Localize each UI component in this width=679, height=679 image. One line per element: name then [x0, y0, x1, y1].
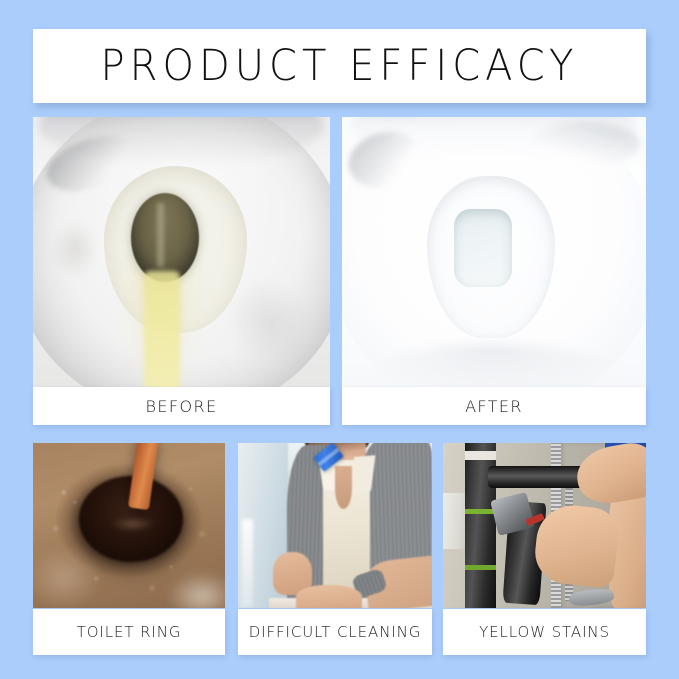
before-label-bar: BEFORE — [33, 387, 330, 425]
toilet-bowl-clean-photo — [342, 117, 646, 387]
bowl-gloss-highlight — [530, 122, 639, 165]
after-label-bar: AFTER — [342, 387, 646, 425]
bowl-smudge — [51, 220, 99, 279]
problem-label-bar-difficult-cleaning: DIFFICULT CLEANING — [238, 609, 432, 655]
green-tape — [465, 565, 495, 570]
woman-clothespin-photo — [238, 443, 432, 608]
yellow-stain-streak — [144, 271, 180, 387]
product-efficacy-poster: PRODUCT EFFICACY BEFORE — [0, 0, 679, 679]
problem-label: TOILET RING — [77, 623, 182, 641]
bowl-drain-hole-stained — [131, 193, 199, 282]
hand-right — [296, 585, 362, 608]
pipe-label — [465, 451, 495, 459]
toilet-bowl-dirty-photo — [33, 117, 330, 387]
problem-label-bar-yellow-stains: YELLOW STAINS — [443, 609, 646, 655]
title-bar: PRODUCT EFFICACY — [33, 29, 646, 103]
bowl-drain-hole-clean — [454, 209, 512, 287]
problem-label: YELLOW STAINS — [479, 623, 610, 641]
after-label: AFTER — [465, 397, 523, 416]
problem-label-bar-toilet-ring: TOILET RING — [33, 609, 225, 655]
water-splash — [33, 545, 102, 608]
page-title: PRODUCT EFFICACY — [101, 45, 579, 87]
bowl-smudge — [229, 279, 306, 360]
before-image-panel — [33, 117, 330, 387]
problem-label: DIFFICULT CLEANING — [249, 623, 422, 641]
drain-pipes-repair-photo — [443, 443, 646, 608]
problem-image-panel-yellow-stains — [443, 443, 646, 608]
before-label: BEFORE — [145, 397, 217, 416]
problem-image-panel-difficult-cleaning — [238, 443, 432, 608]
plunger-murky-water-photo — [33, 443, 225, 608]
green-tape — [465, 509, 495, 514]
after-image-panel — [342, 117, 646, 387]
problem-image-panel-toilet-ring — [33, 443, 225, 608]
